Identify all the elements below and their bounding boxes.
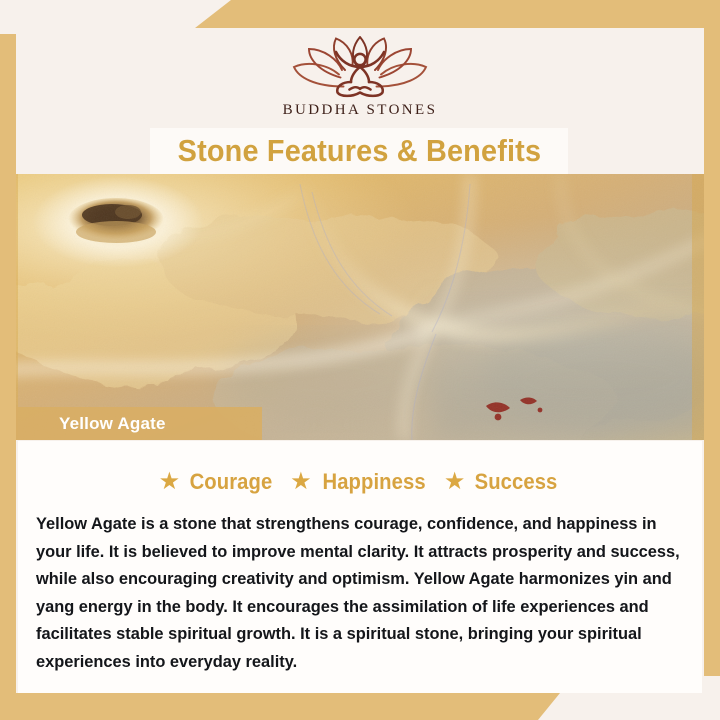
benefit-label: Success xyxy=(475,469,558,495)
decorative-frame-bottom xyxy=(0,693,560,720)
benefit-label: Happiness xyxy=(322,469,425,495)
description-card: ★ Courage ★ Happiness ★ Success Yellow A… xyxy=(18,441,702,693)
stone-photo xyxy=(16,174,704,440)
decorative-frame-left xyxy=(0,0,16,720)
brand-name: BUDDHA STONES xyxy=(283,102,438,119)
stone-description: Yellow Agate is a stone that strengthens… xyxy=(36,511,682,676)
lotus-meditation-icon xyxy=(285,34,435,100)
star-icon: ★ xyxy=(290,470,312,494)
benefit-item-happiness: ★ Happiness xyxy=(290,469,430,495)
product-info-card: BUDDHA STONES Stone Features & Benefits xyxy=(0,0,720,720)
decorative-frame-right xyxy=(704,0,720,720)
benefit-label: Courage xyxy=(190,469,273,495)
decorative-frame-right-notch xyxy=(704,676,720,720)
benefit-item-success: ★ Success xyxy=(444,469,562,495)
benefit-item-courage: ★ Courage xyxy=(159,469,276,495)
content-canvas: BUDDHA STONES Stone Features & Benefits xyxy=(16,28,704,693)
decorative-frame-top xyxy=(195,0,720,28)
star-icon: ★ xyxy=(159,470,181,494)
stone-name-text: Yellow Agate xyxy=(16,414,166,434)
brand-header: BUDDHA STONES xyxy=(16,28,704,128)
benefits-list: ★ Courage ★ Happiness ★ Success xyxy=(18,441,702,495)
stone-name-badge: Yellow Agate xyxy=(16,407,262,440)
star-icon: ★ xyxy=(444,470,466,494)
decorative-frame-left-notch xyxy=(0,0,16,34)
page-title: Stone Features & Benefits xyxy=(177,133,541,169)
section-title-banner: Stone Features & Benefits xyxy=(150,128,568,174)
